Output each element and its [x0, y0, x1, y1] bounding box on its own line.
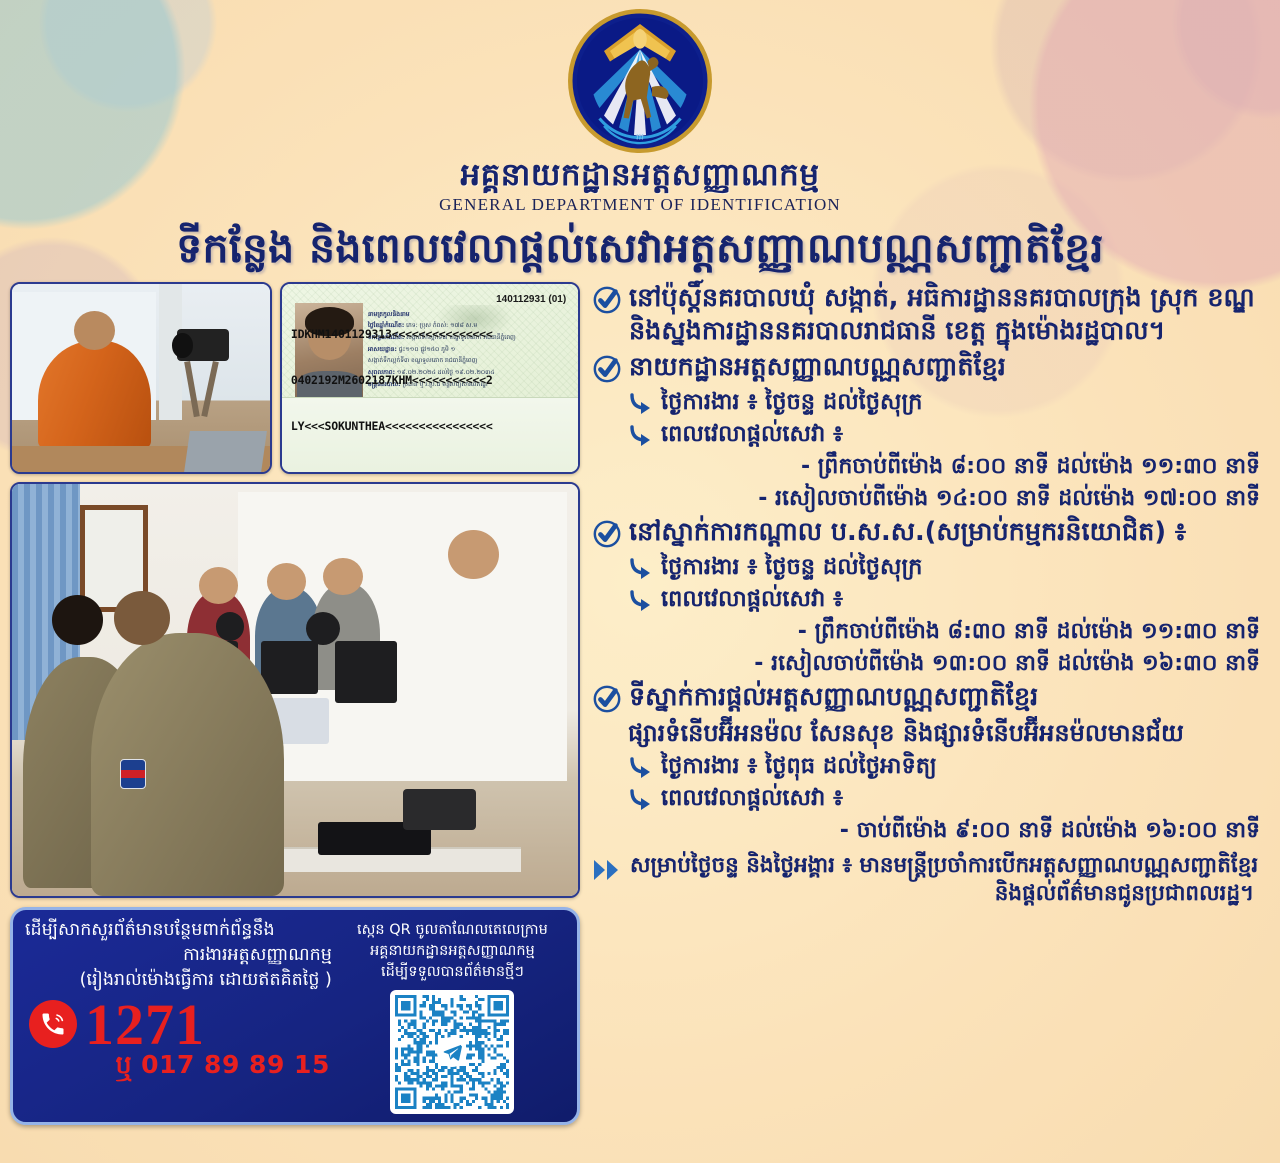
check-circle-icon — [592, 519, 622, 549]
section-2: នាយកដ្ឋានអត្តសញ្ញាណបណ្ណសញ្ជាតិខ្មែរ — [592, 351, 1272, 384]
alt-phone-number[interactable]: 017 89 89 15 — [141, 1050, 330, 1079]
section-4-workdays: ថ្ងៃការងារ ៖ ថ្ងៃពុធ ដល់ថ្ងៃអាទិត្យ — [628, 752, 1272, 781]
section-4-subtitle: ផ្សារទំនើបអ៊ីអនម៉ល សែនសុខ និងផ្សារទំនើបអ… — [628, 718, 1272, 749]
qr-text-line1: ស្កេន QR ចូលតាណែលតេលេក្រាម — [338, 920, 567, 941]
infographic-page: រររ អគ្គនាយកដ្ឋានអត្តសញ្ញាណកម្ម GENERAL … — [0, 0, 1280, 1163]
left-column: 140112931 (01) នាមត្រកូលនិងនាម ថ្ងៃខែឆ្ន… — [0, 282, 592, 1125]
telegram-qr-code[interactable] — [390, 990, 514, 1114]
section-2-title: នាយកដ្ឋានអត្តសញ្ញាណបណ្ណសញ្ជាតិខ្មែរ — [629, 351, 1006, 384]
footnote-text: សម្រាប់ថ្ងៃចន្ទ និងថ្ងៃអង្គារ ៖ មានមន្ត្… — [630, 852, 1258, 908]
contact-right: ស្កេន QR ចូលតាណែលតេលេក្រាម អគ្គនាយកដ្ឋាន… — [338, 918, 567, 1114]
section-4-time: - ចាប់ពីម៉ោង ៩:០០ នាទី ដល់ម៉ោង ១៦:០០ នាទ… — [592, 817, 1272, 845]
svg-text:រររ: រររ — [636, 132, 644, 142]
section-4-title: ទីស្នាក់ការផ្តល់អត្តសញ្ញាណបណ្ណសញ្ជាតិខ្ម… — [629, 681, 1038, 714]
footnote-line-1: សម្រាប់ថ្ងៃចន្ទ និងថ្ងៃអង្គារ ៖ មានមន្ត្… — [630, 853, 1258, 878]
footnote-line-2: និងផ្តល់ព័ត៌មានជូនប្រជាពលរដ្ឋ។ — [630, 880, 1258, 908]
right-column: នៅប៉ុស្តិ៍នគរបាលឃុំ សង្កាត់, អធិការដ្ឋាន… — [592, 282, 1280, 1125]
section-3-hours: ពេលវេលាផ្តល់សេវា ៖ — [628, 585, 1272, 614]
section-4-hours-text: ពេលវេលាផ្តល់សេវា ៖ — [661, 784, 843, 812]
curved-arrow-icon — [628, 590, 656, 614]
section-3-hours-text: ពេលវេលាផ្តល់សេវា ៖ — [661, 585, 843, 613]
id-card-sample: 140112931 (01) នាមត្រកូលនិងនាម ថ្ងៃខែឆ្ន… — [280, 282, 580, 474]
curved-arrow-icon — [628, 757, 656, 781]
mrz-line-2: 0402192M2602187KHM<<<<<<<<<<<2 — [291, 373, 569, 388]
alt-phone-prefix: ឬ — [116, 1050, 132, 1079]
hotline-row[interactable]: 1271 — [25, 997, 338, 1052]
curved-arrow-icon — [628, 558, 656, 582]
check-circle-icon — [592, 354, 622, 384]
section-2-workdays: ថ្ងៃការងារ ៖ ថ្ងៃចន្ទ ដល់ថ្ងៃសុក្រ — [628, 388, 1272, 417]
check-circle-icon — [592, 684, 622, 714]
id-card-mrz: IDKHM1401129313<<<<<<<<<<<<<<< 0402192M2… — [291, 297, 569, 465]
contact-text-line2: ការងារអត្តសញ្ញាណកម្ម — [25, 943, 338, 968]
section-3-time-afternoon: - រសៀលចាប់ពីម៉ោង ១៣:០០ នាទី ដល់ម៉ោង ១៦:៣… — [592, 650, 1272, 678]
contact-text-line3: (រៀងរាល់ម៉ោងធ្វើការ ដោយឥតគិតថ្លៃ ) — [25, 968, 338, 993]
photo-monk-session — [10, 282, 272, 474]
section-2-workdays-text: ថ្ងៃការងារ ៖ ថ្ងៃចន្ទ ដល់ថ្ងៃសុក្រ — [661, 388, 922, 416]
section-4-hours: ពេលវេលាផ្តល់សេវា ៖ — [628, 784, 1272, 813]
section-3-title: នៅស្នាក់ការកណ្តាល ប.ស.ស.(សម្រាប់កម្មករនិ… — [629, 516, 1186, 549]
emblem-icon: រររ — [565, 6, 715, 156]
top-photo-row: 140112931 (01) នាមត្រកូលនិងនាម ថ្ងៃខែឆ្ន… — [10, 282, 586, 474]
curved-arrow-icon — [628, 789, 656, 813]
section-4: ទីស្នាក់ការផ្តល់អត្តសញ្ញាណបណ្ណសញ្ជាតិខ្ម… — [592, 681, 1272, 714]
qr-text-line3: ដើម្បីទទួលបានព័ត៌មានថ្មីៗ — [338, 962, 567, 983]
section-2-hours: ពេលវេលាផ្តល់សេវា ៖ — [628, 420, 1272, 449]
section-3-workdays-text: ថ្ងៃការងារ ៖ ថ្ងៃចន្ទ ដល់ថ្ងៃសុក្រ — [661, 553, 922, 581]
section-1: នៅប៉ុស្តិ៍នគរបាលឃុំ សង្កាត់, អធិការដ្ឋាន… — [592, 282, 1272, 347]
qr-text-line2: អគ្គនាយកដ្ឋានអត្តសញ្ញាណកម្ម — [338, 941, 567, 962]
page-header: រររ អគ្គនាយកដ្ឋានអត្តសញ្ញាណកម្ម GENERAL … — [0, 0, 1280, 272]
section-3-time-morning: - ព្រឹកចាប់ពីម៉ោង ៨:៣០ នាទី ដល់ម៉ោង ១១:៣… — [592, 618, 1272, 646]
hotline-number[interactable]: 1271 — [85, 997, 205, 1052]
photo-registration-office — [10, 482, 580, 898]
telegram-icon — [437, 1037, 467, 1067]
contact-left: ដើម្បីសាកសួរព័ត៌មានបន្ថែមពាក់ព័ន្ធនឹង កា… — [23, 918, 338, 1114]
section-1-title: នៅប៉ុស្តិ៍នគរបាលឃុំ សង្កាត់, អធិការដ្ឋាន… — [629, 282, 1272, 347]
section-4-workdays-text: ថ្ងៃការងារ ៖ ថ្ងៃពុធ ដល់ថ្ងៃអាទិត្យ — [661, 752, 937, 780]
section-3: នៅស្នាក់ការកណ្តាល ប.ស.ស.(សម្រាប់កម្មករនិ… — [592, 516, 1272, 549]
curved-arrow-icon — [628, 425, 656, 449]
footnote: សម្រាប់ថ្ងៃចន្ទ និងថ្ងៃអង្គារ ៖ មានមន្ត្… — [592, 852, 1272, 908]
contact-text-line1: ដើម្បីសាកសួរព័ត៌មានបន្ថែមពាក់ព័ន្ធនឹង — [25, 918, 338, 943]
mrz-line-1: IDKHM1401129313<<<<<<<<<<<<<<< — [291, 327, 569, 342]
section-3-workdays: ថ្ងៃការងារ ៖ ថ្ងៃចន្ទ ដល់ថ្ងៃសុក្រ — [628, 553, 1272, 582]
alt-phone-row[interactable]: ឬ 017 89 89 15 — [25, 1050, 338, 1086]
section-2-time-morning: - ព្រឹកចាប់ពីម៉ោង ៨:០០ នាទី ដល់ម៉ោង ១១:៣… — [592, 453, 1272, 481]
department-name-khmer: អគ្គនាយកដ្ឋានអត្តសញ្ញាណកម្ម — [0, 158, 1280, 192]
page-title: ទីកន្លែង និងពេលវេលាផ្តល់សេវាអត្តសញ្ញាណបណ… — [0, 225, 1280, 272]
check-circle-icon — [592, 285, 622, 315]
contact-info-box: ដើម្បីសាកសួរព័ត៌មានបន្ថែមពាក់ព័ន្ធនឹង កា… — [10, 907, 580, 1125]
phone-call-icon — [29, 1000, 77, 1048]
department-name-english: GENERAL DEPARTMENT OF IDENTIFICATION — [0, 195, 1280, 215]
mrz-line-3: LY<<<SOKUNTHEA<<<<<<<<<<<<<<<< — [291, 419, 569, 434]
curved-arrow-icon — [628, 393, 656, 417]
double-chevron-icon — [592, 858, 624, 882]
section-2-time-afternoon: - រសៀលចាប់ពីម៉ោង ១៤:០០ នាទី ដល់ម៉ោង ១៧:០… — [592, 485, 1272, 513]
content-body: 140112931 (01) នាមត្រកូលនិងនាម ថ្ងៃខែឆ្ន… — [0, 282, 1280, 1125]
section-2-hours-text: ពេលវេលាផ្តល់សេវា ៖ — [661, 420, 843, 448]
